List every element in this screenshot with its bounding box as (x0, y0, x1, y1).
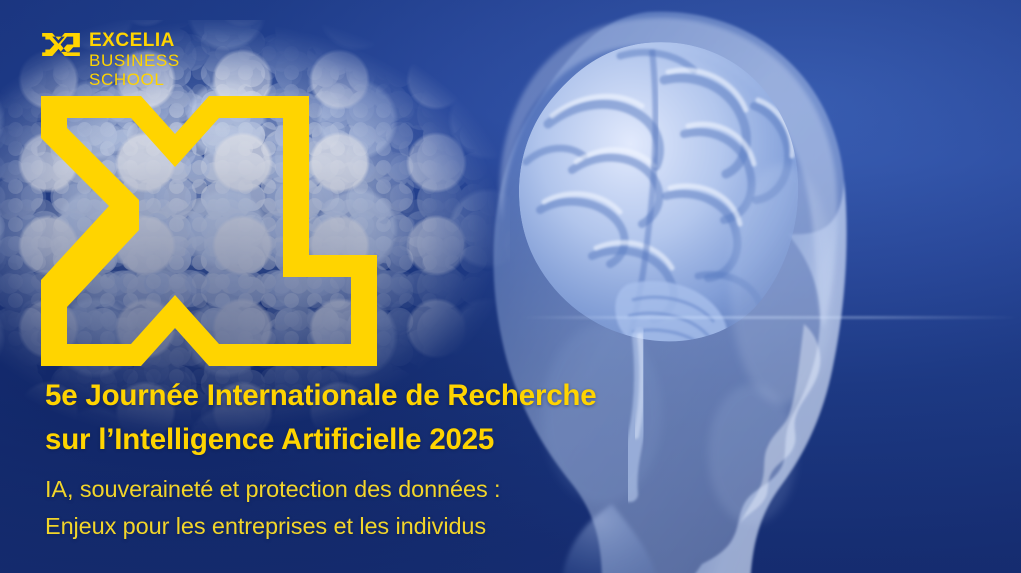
excelia-logo[interactable]: EXCELIA BUSINESS SCHOOL (42, 30, 180, 89)
title-line-1: 5e Journée Internationale de Recherche (45, 374, 745, 418)
logo-name: EXCELIA (89, 30, 180, 51)
subtitle-line-1: IA, souveraineté et protection des donné… (45, 471, 745, 508)
excelia-xl-mark-icon (42, 33, 80, 56)
logo-business: BUSINESS (89, 51, 180, 70)
title-line-2: sur l’Intelligence Artificielle 2025 (45, 418, 745, 462)
subtitle-line-2: Enjeux pour les entreprises et les indiv… (45, 508, 745, 545)
excelia-logo-text: EXCELIA BUSINESS SCHOOL (89, 30, 180, 89)
page-title: 5e Journée Internationale de Recherche s… (45, 374, 745, 462)
page-subtitle: IA, souveraineté et protection des donné… (45, 471, 745, 545)
excelia-xl-large-mark (41, 96, 377, 366)
logo-school: SCHOOL (89, 70, 180, 89)
light-streak (520, 316, 1020, 319)
event-poster: EXCELIA BUSINESS SCHOOL 5e Journée Inter… (0, 0, 1021, 573)
